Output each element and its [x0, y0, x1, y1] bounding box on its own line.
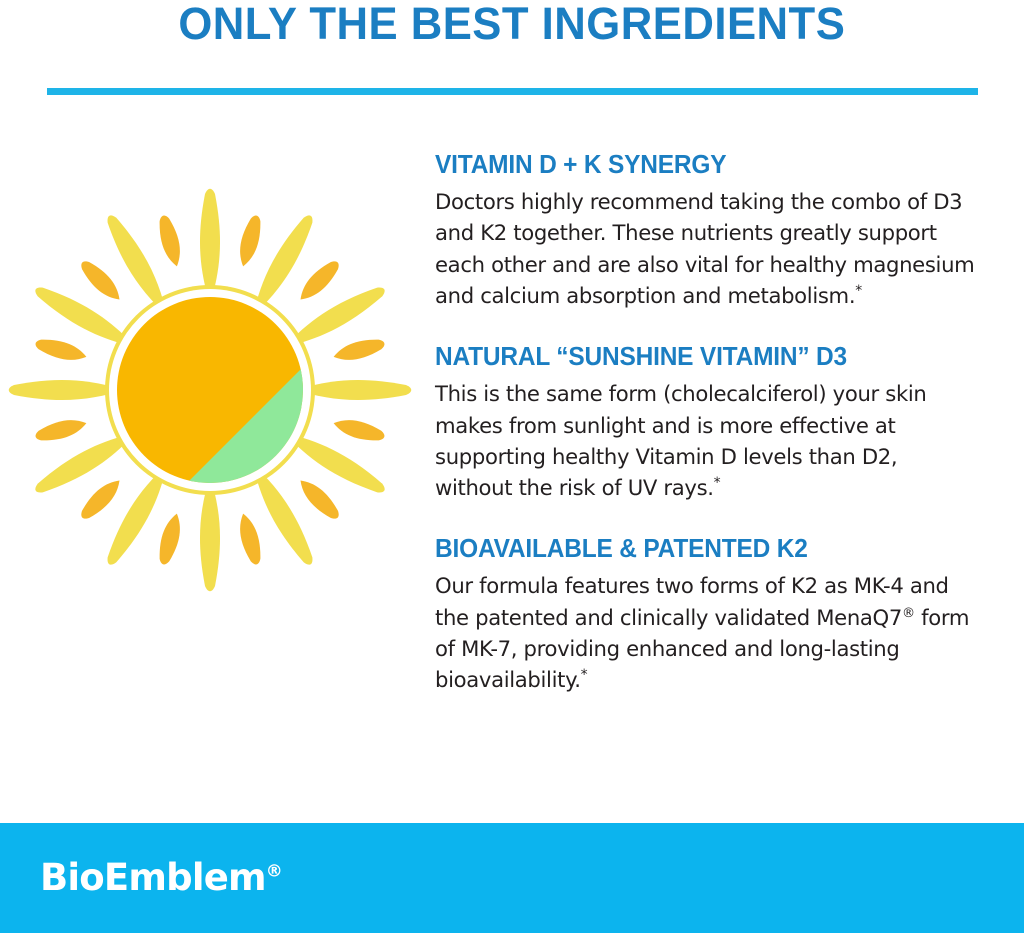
title-divider-rule — [47, 88, 978, 95]
features-column: VITAMIN D + K SYNERGY Doctors highly rec… — [435, 150, 985, 697]
feature-body: This is the same form (cholecalciferol) … — [435, 379, 977, 504]
feature-block-vitamin-d-k-synergy: VITAMIN D + K SYNERGY Doctors highly rec… — [435, 150, 985, 312]
feature-block-bioavailable-patented-k2: BIOAVAILABLE & PATENTED K2 Our formula f… — [435, 534, 985, 696]
footnote-asterisk: * — [855, 283, 862, 299]
feature-body-text: Doctors highly recommend taking the comb… — [435, 190, 974, 309]
sun-core-disc — [100, 280, 320, 500]
footnote-asterisk: * — [714, 475, 721, 491]
feature-body-text-part1: Our formula features two forms of K2 as … — [435, 574, 949, 630]
feature-heading: NATURAL “SUNSHINE VITAMIN” D3 — [435, 342, 963, 372]
brand-logo: BioEmblem® — [40, 859, 283, 896]
footer-brand-bar: BioEmblem® — [0, 823, 1024, 933]
feature-heading: VITAMIN D + K SYNERGY — [435, 150, 963, 180]
brand-logo-text: BioEmblem — [40, 856, 266, 899]
page-title: ONLY THE BEST INGREDIENTS — [179, 1, 846, 46]
feature-body-text: This is the same form (cholecalciferol) … — [435, 382, 927, 501]
registered-trademark-icon: ® — [902, 606, 915, 621]
infographic-page: ONLY THE BEST INGREDIENTS — [0, 0, 1024, 933]
registered-trademark-icon: ® — [266, 862, 283, 882]
footnote-asterisk: * — [581, 667, 588, 683]
feature-body: Our formula features two forms of K2 as … — [435, 571, 977, 696]
feature-heading: BIOAVAILABLE & PATENTED K2 — [435, 534, 963, 564]
feature-block-natural-sunshine-vitamin-d3: NATURAL “SUNSHINE VITAMIN” D3 This is th… — [435, 342, 985, 504]
sun-icon — [8, 188, 412, 592]
page-title-block: ONLY THE BEST INGREDIENTS — [0, 0, 1024, 54]
feature-body: Doctors highly recommend taking the comb… — [435, 187, 977, 312]
